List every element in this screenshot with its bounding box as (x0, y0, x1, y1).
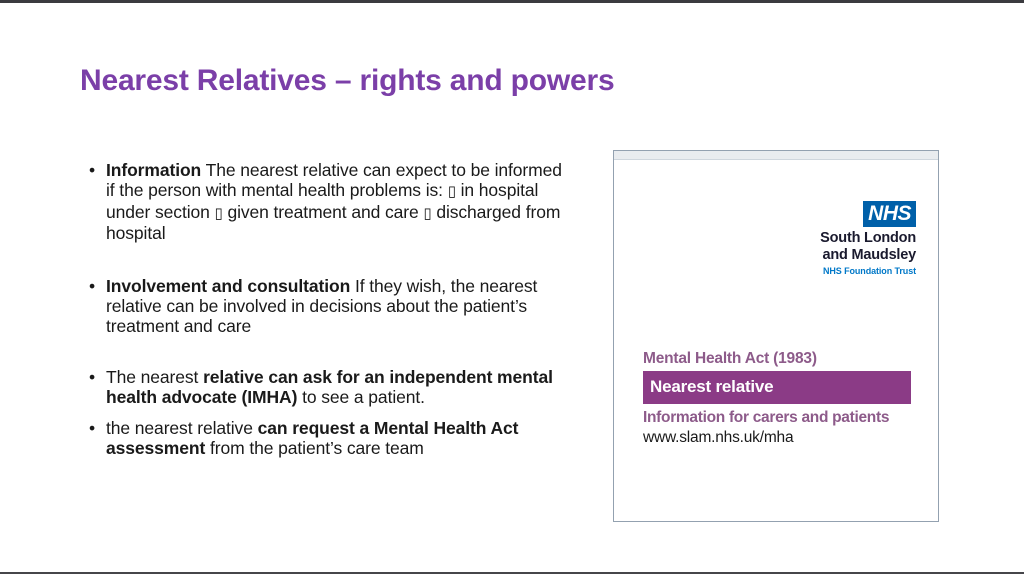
bullet-spacer-3 (86, 408, 568, 418)
bullet-spacer-2 (86, 337, 568, 367)
bullet-item-involvement: • Involvement and consultation If they w… (86, 276, 568, 337)
trust-name-line-2: and Maudsley (796, 247, 916, 264)
missing-glyph-icon-2: ▯ (215, 204, 223, 222)
leaflet-banner-nearest-relative: Nearest relative (643, 371, 911, 404)
missing-glyph-icon-3: ▯ (423, 204, 431, 222)
bullet-text-imha-prefix: The nearest (106, 367, 203, 387)
bullet-text-seg2: given treatment and care (223, 202, 424, 222)
leaflet-url: www.slam.nhs.uk/mha (643, 428, 911, 447)
bullet-spacer-1 (86, 244, 568, 276)
bullet-list: • Information The nearest relative can e… (86, 160, 568, 458)
bullet-marker: • (89, 367, 95, 387)
leaflet-page: NHS South London and Maudsley NHS Founda… (614, 161, 938, 521)
bottom-edge-bar (0, 572, 1024, 574)
bullet-text-assessment-prefix: the nearest relative (106, 418, 258, 438)
bullet-marker: • (89, 160, 95, 180)
bullet-item-imha: • The nearest relative can ask for an in… (86, 367, 568, 408)
bullet-item-assessment: • the nearest relative can request a Men… (86, 418, 568, 459)
leaflet-act-title: Mental Health Act (1983) (643, 349, 911, 368)
leaflet-subtitle: Information for carers and patients (643, 408, 911, 427)
bullet-marker: • (89, 276, 95, 296)
bullet-marker: • (89, 418, 95, 438)
bullet-lead-involvement: Involvement and consultation (106, 276, 350, 296)
trust-subtitle: NHS Foundation Trust (796, 265, 916, 277)
nhs-logo: NHS South London and Maudsley NHS Founda… (796, 201, 916, 277)
trust-name-line-1: South London (796, 230, 916, 247)
missing-glyph-icon-1: ▯ (448, 182, 456, 200)
top-edge-bar (0, 0, 1024, 3)
bullet-item-information: • Information The nearest relative can e… (86, 160, 568, 244)
leaflet-text-block: Mental Health Act (1983) Nearest relativ… (643, 349, 911, 447)
bullet-lead-information: Information (106, 160, 201, 180)
bullet-text-assessment-suffix: from the patient’s care team (205, 438, 424, 458)
page-title: Nearest Relatives – rights and powers (80, 64, 614, 98)
bullet-text-imha-suffix: to see a patient. (297, 387, 425, 407)
leaflet-top-strip (614, 151, 938, 160)
leaflet-image-frame: NHS South London and Maudsley NHS Founda… (613, 150, 939, 522)
nhs-wordmark-icon: NHS (863, 201, 916, 227)
slide-canvas: Nearest Relatives – rights and powers • … (0, 0, 1024, 578)
